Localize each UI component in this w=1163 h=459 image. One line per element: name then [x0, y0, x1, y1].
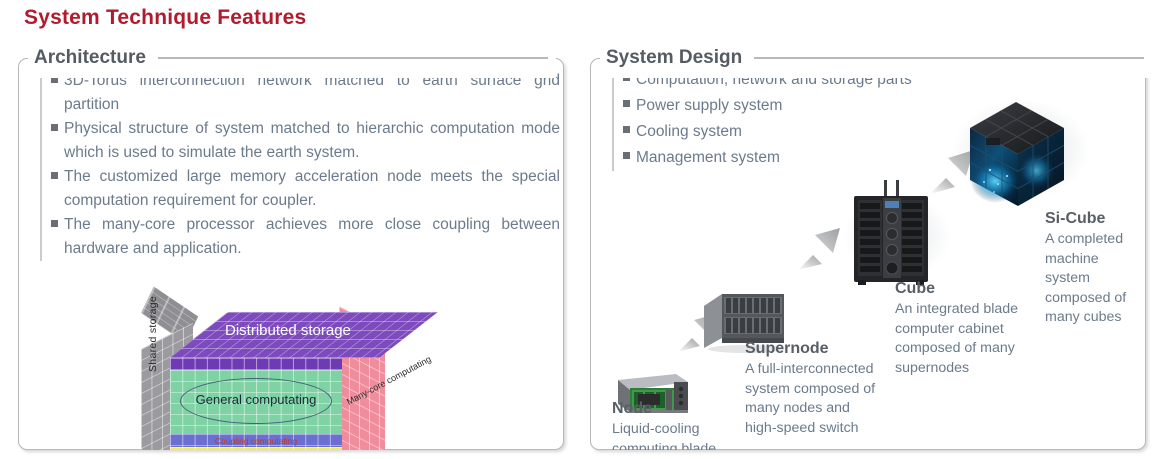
square-bullet-icon	[623, 126, 630, 133]
system-design-panel-header: System Design	[600, 38, 1152, 78]
architecture-bullet-text: Physical structure of system matched to …	[64, 117, 560, 164]
distributed-storage-label: Distributed storage	[225, 322, 351, 339]
si-cube-image	[960, 92, 1072, 210]
list-item: Power supply system	[614, 93, 952, 118]
system-design-bullet-text: Power supply system	[636, 93, 952, 118]
band-acceleration-computing: Acceleration computating	[170, 447, 342, 450]
arrow-supernode-to-cube-icon	[796, 224, 842, 277]
architecture-header-label: Architecture	[34, 47, 146, 69]
cube-caption-title: Cube	[895, 280, 935, 298]
architecture-cube-diagram: Shared storage Many-core computating Dis…	[133, 312, 433, 450]
list-item: The many-core processor achieves more cl…	[42, 213, 560, 260]
list-item: Cooling system	[614, 119, 952, 144]
band-coupling-computing: Coupling computating	[170, 434, 342, 447]
architecture-panel: Architecture 3D-Torus interconnection ne…	[18, 38, 564, 450]
supernode-caption-body: A full-interconnected system composed of…	[745, 360, 885, 438]
band-general-computing: General computating	[170, 370, 342, 434]
shared-storage-label: Shared storage	[147, 296, 159, 372]
architecture-bullet-text: The many-core processor achieves more cl…	[64, 213, 560, 260]
list-item: Management system	[614, 145, 952, 170]
page-title: System Technique Features	[24, 6, 306, 30]
sicube-caption-title: Si-Cube	[1045, 210, 1105, 228]
general-computing-label: General computating	[170, 392, 342, 407]
cube-caption-body: An integrated blade computer cabinet com…	[895, 300, 1035, 378]
architecture-panel-content: 3D-Torus interconnection network matched…	[18, 58, 564, 450]
cube-cabinet-image	[848, 180, 934, 290]
system-design-panel-content: Computation, network and storage parts P…	[590, 58, 1146, 450]
system-design-panel: System Design Computation, network and s…	[590, 38, 1146, 450]
cube-front-bands: General computating Coupling computating…	[170, 358, 342, 450]
node-caption-title: Node	[612, 400, 652, 418]
square-bullet-icon	[623, 100, 630, 107]
list-item: Physical structure of system matched to …	[42, 117, 560, 164]
architecture-bullet-text: The customized large memory acceleration…	[64, 165, 560, 212]
supernode-caption-title: Supernode	[745, 340, 829, 358]
node-caption-body: Liquid-cooling computing blade	[612, 420, 728, 450]
square-bullet-icon	[51, 172, 58, 179]
system-design-header-label: System Design	[606, 47, 742, 69]
square-bullet-icon	[51, 124, 58, 131]
system-design-bullet-text: Cooling system	[636, 119, 952, 144]
square-bullet-icon	[51, 220, 58, 227]
band-top-purple	[170, 358, 342, 370]
square-bullet-icon	[623, 152, 630, 159]
architecture-header-rule	[158, 57, 548, 59]
system-design-bullet-text: Management system	[636, 145, 952, 170]
architecture-bullet-list: 3D-Torus interconnection network matched…	[40, 69, 560, 261]
list-item: The customized large memory acceleration…	[42, 165, 560, 212]
sicube-caption-body: A completed machine system composed of m…	[1045, 230, 1127, 328]
system-design-bullet-list: Computation, network and storage parts P…	[612, 67, 952, 171]
system-design-header-rule	[754, 57, 1144, 59]
coupling-computing-label: Coupling computating	[170, 436, 342, 446]
architecture-panel-header: Architecture	[28, 38, 556, 78]
